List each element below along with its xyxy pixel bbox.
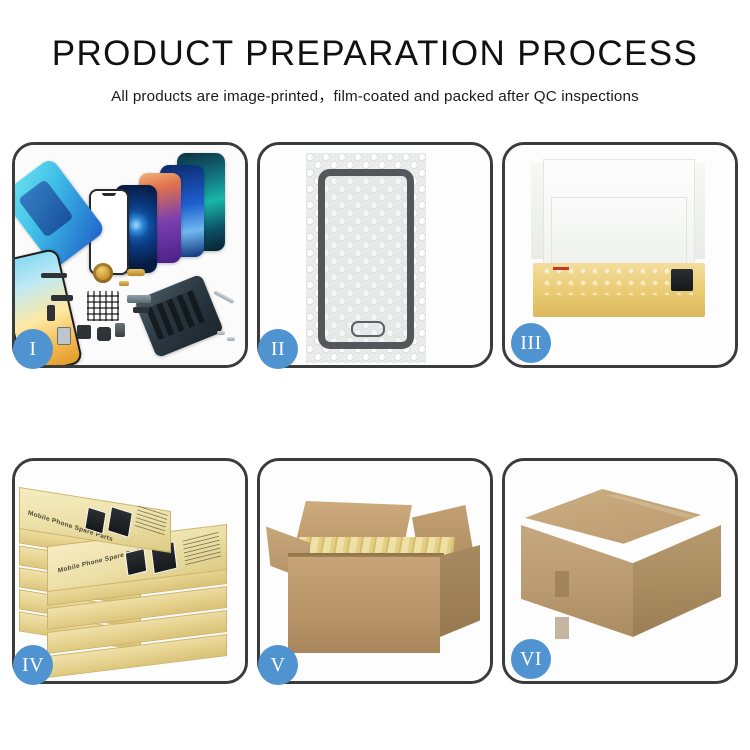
step-1-image	[15, 145, 245, 365]
cable-part-b	[47, 305, 55, 321]
process-step-panel-6[interactable]: VI	[502, 458, 738, 684]
carton-right-face	[633, 525, 721, 637]
red-marker-label	[553, 267, 569, 270]
button-part	[97, 327, 111, 341]
jack-part	[115, 323, 125, 337]
wrapped-phone-screen	[318, 169, 414, 349]
process-step-panel-2[interactable]: II	[257, 142, 493, 368]
carton-seam-lower	[555, 617, 569, 639]
step-2-numeral-badge: II	[258, 329, 298, 369]
sim-tray-part	[57, 327, 71, 345]
box-thumbnail-b	[107, 506, 133, 538]
vibrator-part	[77, 325, 91, 339]
step-3-numeral-badge: III	[511, 323, 551, 363]
chip-grid-part	[87, 291, 119, 321]
carton-side-face	[440, 545, 480, 637]
cable-part-a	[51, 295, 73, 301]
box-thumbnail-a	[125, 548, 148, 576]
speaker-part	[133, 307, 149, 313]
kraft-box-stack: Mobile Phone Spare Parts Mobile Phone Sp…	[19, 477, 243, 673]
flex-strip-part	[41, 273, 67, 278]
step-4-image: Mobile Phone Spare Parts Mobile Phone Sp…	[15, 461, 245, 681]
step-5-numeral-badge: V	[258, 645, 298, 685]
step-2-image	[260, 145, 490, 365]
process-step-panel-1[interactable]: I	[12, 142, 248, 368]
copper-coil-part	[93, 263, 113, 283]
process-step-grid: I II III	[12, 142, 738, 684]
carton-front-face	[288, 557, 440, 653]
step-4-numeral-badge: IV	[13, 645, 53, 685]
bubble-wrap-sheet	[306, 153, 426, 363]
box-spec-lines	[134, 506, 167, 538]
process-step-panel-3[interactable]: III	[502, 142, 738, 368]
screw-part-b	[227, 337, 235, 341]
sealed-carton	[521, 489, 721, 657]
camera-module-part	[127, 295, 151, 303]
step-5-image	[260, 461, 490, 681]
step-1-numeral-badge: I	[13, 329, 53, 369]
box-spec-lines	[183, 532, 222, 566]
foam-insert	[551, 197, 687, 271]
gold-connector-part	[127, 269, 145, 276]
process-step-panel-5[interactable]: V	[257, 458, 493, 684]
carton-seam-upper	[555, 571, 569, 597]
page-title: PRODUCT PREPARATION PROCESS	[0, 34, 750, 74]
page-subtitle: All products are image-printed，film-coat…	[0, 84, 750, 106]
process-step-panel-4[interactable]: Mobile Phone Spare Parts Mobile Phone Sp…	[12, 458, 248, 684]
gold-contact-part	[119, 281, 129, 286]
page-header: PRODUCT PREPARATION PROCESS All products…	[0, 0, 750, 106]
screw-part-a	[217, 331, 225, 335]
carton-front-face	[521, 525, 633, 637]
step-6-numeral-badge: VI	[511, 639, 551, 679]
